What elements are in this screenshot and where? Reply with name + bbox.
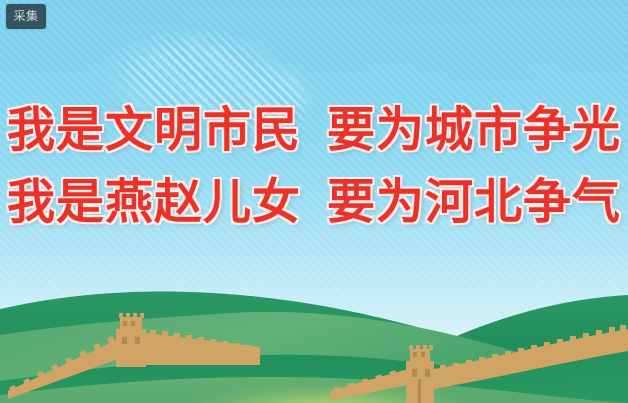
slogan-line-1: 我是文明市民 要为城市争光 <box>0 94 628 166</box>
slogan-line-2: 我是燕赵儿女 要为河北争气 <box>0 166 628 238</box>
slogan-block: 我是文明市民 要为城市争光 我是燕赵儿女 要为河北争气 <box>0 94 628 238</box>
slogan-line-2-right: 要为河北争气 <box>327 166 621 238</box>
landscape-illustration <box>0 273 628 403</box>
slogan-line-1-left: 我是文明市民 <box>7 94 301 166</box>
capture-button[interactable]: 采集 <box>6 4 46 29</box>
banner-root: 我是文明市民 要为城市争光 我是燕赵儿女 要为河北争气 采集 <box>0 0 628 403</box>
slogan-line-2-left: 我是燕赵儿女 <box>7 166 301 238</box>
slogan-line-1-right: 要为城市争光 <box>327 94 621 166</box>
